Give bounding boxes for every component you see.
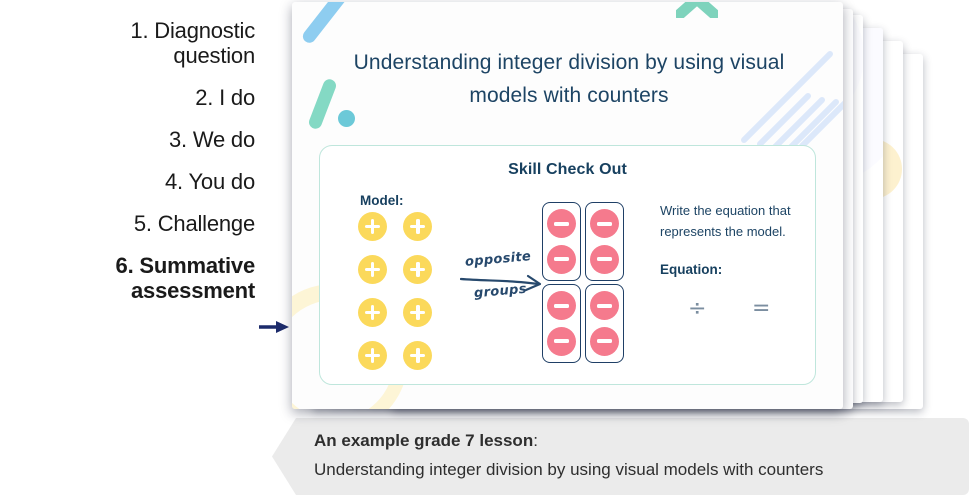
step-1-line-1: 1. Diagnostic <box>130 18 255 43</box>
caption-bold-text: An example grade 7 lesson <box>314 431 533 450</box>
division-symbol: ÷ <box>688 296 706 321</box>
lesson-step-list: 1. Diagnostic question 2. I do 3. We do … <box>0 18 255 320</box>
positive-counter <box>403 212 432 241</box>
negative-counter <box>547 327 576 356</box>
positive-counter-grid <box>358 212 468 384</box>
sidebar-item-step-2[interactable]: 2. I do <box>0 85 255 110</box>
sidebar-item-step-5[interactable]: 5. Challenge <box>0 211 255 236</box>
teal-dot-decoration <box>338 110 355 127</box>
negative-counter <box>590 245 619 274</box>
model-label: Model: <box>360 193 404 208</box>
teal-chevron-icon <box>676 2 718 18</box>
opposite-groups-annotation: opposite groups <box>460 254 550 312</box>
step-1-line-2: question <box>0 43 255 68</box>
step-5-line-1: 5. Challenge <box>134 211 255 236</box>
step-2-line-1: 2. I do <box>195 85 255 110</box>
sidebar-item-step-3[interactable]: 3. We do <box>0 127 255 152</box>
caption-line-2: Understanding integer division by using … <box>314 460 823 480</box>
step-4-line-1: 4. You do <box>165 169 255 194</box>
positive-counter <box>403 341 432 370</box>
equation-label: Equation: <box>660 262 722 277</box>
negative-group-box <box>585 202 624 281</box>
sidebar-item-step-1[interactable]: 1. Diagnostic question <box>0 18 255 68</box>
positive-counter <box>358 341 387 370</box>
negative-group-box <box>585 284 624 363</box>
negative-counter <box>590 291 619 320</box>
prompt-text: Write the equation that represents the m… <box>660 200 816 242</box>
negative-counter <box>547 291 576 320</box>
negative-group-box <box>542 284 581 363</box>
caption-line-1: An example grade 7 lesson: <box>314 431 538 451</box>
negative-counter <box>547 245 576 274</box>
slide-stack: 3 .. <box>292 2 872 414</box>
positive-counter <box>358 255 387 284</box>
positive-counter <box>358 212 387 241</box>
main-slide[interactable]: Understanding integer division by using … <box>292 2 843 409</box>
negative-counter <box>547 209 576 238</box>
coral-arc-decoration <box>390 2 466 32</box>
step-3-line-1: 3. We do <box>169 127 255 152</box>
step-6-line-2: assessment <box>0 278 255 303</box>
annotation-line-1: opposite <box>464 249 531 270</box>
caption-colon: : <box>533 431 538 450</box>
caption-callout: An example grade 7 lesson: Understanding… <box>272 418 969 495</box>
page-title: Understanding integer division by using … <box>344 46 794 112</box>
card-heading: Skill Check Out <box>320 161 815 179</box>
positive-counter <box>403 255 432 284</box>
page-root: 1. Diagnostic question 2. I do 3. We do … <box>0 0 969 495</box>
positive-counter <box>358 298 387 327</box>
equals-symbol: = <box>752 296 770 321</box>
negative-counter <box>590 209 619 238</box>
right-arrow-icon <box>259 319 290 335</box>
sidebar-item-step-6[interactable]: 6. Summative assessment <box>0 253 255 303</box>
positive-counter <box>403 298 432 327</box>
teal-slash-decoration <box>307 77 338 130</box>
step-6-line-1: 6. Summative <box>116 253 255 278</box>
skill-check-card: Skill Check Out Model: opposite <box>319 145 816 385</box>
negative-group-box <box>542 202 581 281</box>
sidebar-item-step-4[interactable]: 4. You do <box>0 169 255 194</box>
blue-bar-decoration <box>300 2 348 45</box>
annotation-line-2: groups <box>473 282 527 302</box>
negative-counter <box>590 327 619 356</box>
